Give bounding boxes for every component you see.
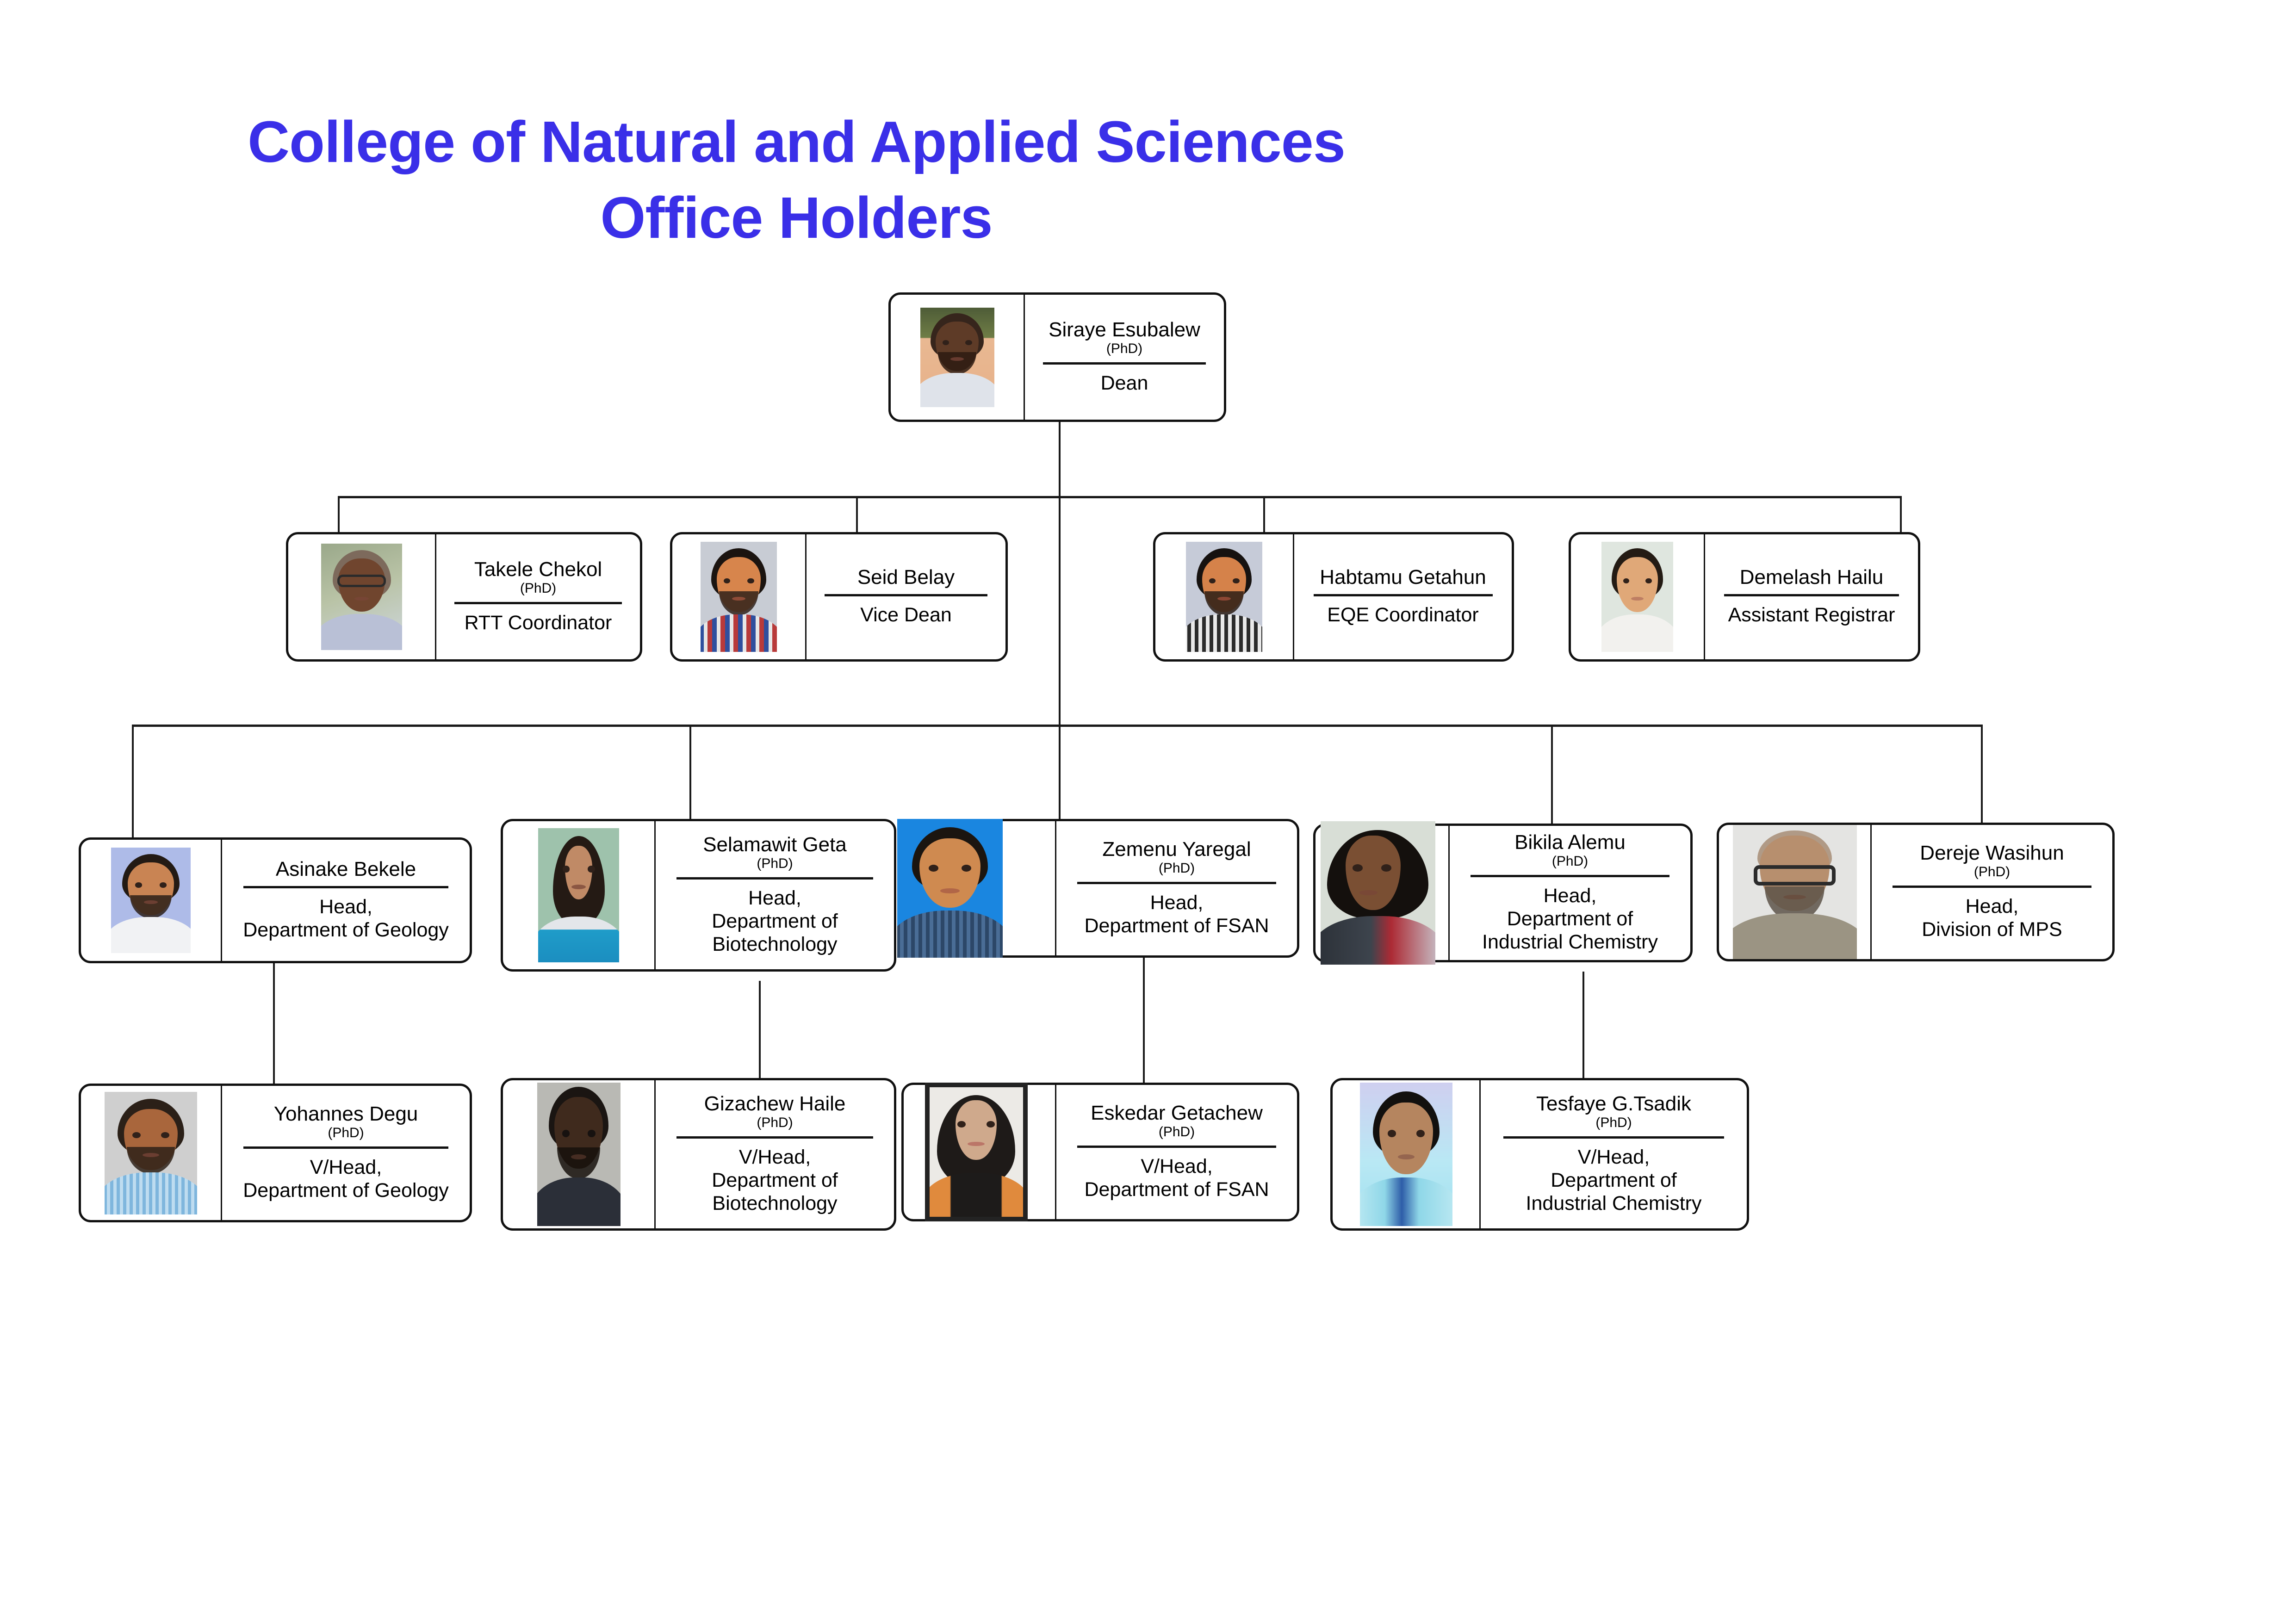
node-vhead-geology[interactable]: Yohannes Degu (PhD) V/Head, Department o…	[79, 1084, 472, 1222]
avatar-dean	[920, 308, 994, 407]
person-name: Zemenu Yaregal	[1102, 839, 1251, 861]
avatar-assistant-registrar	[1601, 542, 1673, 652]
info-cell-head-industrial-chemistry: Bikila Alemu (PhD) Head, Department of I…	[1450, 826, 1690, 960]
person-credential: (PhD)	[1595, 1115, 1632, 1131]
info-cell-vhead-fsan: Eskedar Getachew (PhD) V/Head, Departmen…	[1056, 1085, 1297, 1219]
info-cell-assistant-registrar: Demelash Hailu Assistant Registrar	[1705, 534, 1918, 659]
person-role: Assistant Registrar	[1728, 604, 1895, 627]
person-credential: (PhD)	[1106, 341, 1142, 357]
avatar-head-mps	[1733, 825, 1857, 959]
person-role: V/Head, Department of Geology	[243, 1156, 449, 1202]
person-role: Head, Department of Industrial Chemistry	[1482, 885, 1658, 954]
person-name: Habtamu Getahun	[1320, 567, 1486, 588]
person-credential: (PhD)	[757, 1115, 793, 1131]
divider	[676, 1136, 874, 1139]
org-chart-canvas: College of Natural and Applied Sciences …	[0, 0, 2296, 1623]
avatar-cell-assistant-registrar	[1571, 534, 1705, 659]
info-cell-vhead-biotechnology: Gizachew Haile (PhD) V/Head, Department …	[656, 1080, 894, 1228]
connector-level2-bus	[338, 496, 1902, 498]
person-name: Tesfaye G.Tsadik	[1536, 1093, 1691, 1115]
avatar-rtt-coordinator	[321, 544, 402, 650]
divider	[676, 877, 874, 880]
divider	[243, 886, 448, 888]
divider	[1503, 1136, 1724, 1139]
divider	[1077, 882, 1276, 884]
person-role: Vice Dean	[860, 604, 952, 627]
page-title: College of Natural and Applied Sciences …	[0, 104, 1944, 256]
divider	[454, 602, 621, 604]
avatar-eqe-coordinator	[1186, 542, 1262, 652]
avatar-cell-eqe-coordinator	[1155, 534, 1294, 659]
person-name: Demelash Hailu	[1740, 567, 1884, 588]
node-vhead-biotechnology[interactable]: Gizachew Haile (PhD) V/Head, Department …	[501, 1078, 896, 1231]
person-credential: (PhD)	[757, 856, 793, 872]
avatar-vhead-industrial-chemistry	[1360, 1083, 1452, 1226]
node-head-biotechnology[interactable]: Selamawit Geta (PhD) Head, Department of…	[501, 819, 896, 972]
person-name: Yohannes Degu	[274, 1103, 418, 1125]
divider	[1314, 594, 1493, 596]
avatar-vhead-fsan	[925, 1083, 1028, 1221]
divider	[1471, 875, 1669, 877]
node-vhead-industrial-chemistry[interactable]: Tesfaye G.Tsadik (PhD) V/Head, Departmen…	[1330, 1078, 1749, 1231]
node-assistant-registrar[interactable]: Demelash Hailu Assistant Registrar	[1569, 532, 1920, 662]
person-name: Bikila Alemu	[1514, 832, 1626, 854]
avatar-vhead-biotechnology	[537, 1083, 621, 1226]
divider	[243, 1146, 448, 1149]
info-cell-rtt-coordinator: Takele Chekol (PhD) RTT Coordinator	[436, 534, 640, 659]
connector-dean-stem	[1059, 421, 1061, 726]
avatar-cell-vice-dean	[672, 534, 807, 659]
person-role: Dean	[1101, 372, 1148, 395]
node-eqe-coordinator[interactable]: Habtamu Getahun EQE Coordinator	[1153, 532, 1514, 662]
avatar-cell-head-geology	[81, 840, 222, 961]
node-head-industrial-chemistry[interactable]: Bikila Alemu (PhD) Head, Department of I…	[1313, 824, 1693, 962]
divider	[1077, 1146, 1276, 1148]
avatar-cell-rtt-coordinator	[288, 534, 436, 659]
person-name: Dereje Wasihun	[1920, 842, 2064, 864]
avatar-cell-vhead-industrial-chemistry	[1333, 1080, 1481, 1228]
person-role: EQE Coordinator	[1327, 604, 1478, 627]
person-role: Head, Department of Biotechnology	[712, 887, 838, 956]
avatar-vice-dean	[701, 542, 777, 652]
avatar-cell-vhead-geology	[81, 1086, 222, 1220]
connector-drop-biotechnology	[689, 725, 691, 827]
node-rtt-coordinator[interactable]: Takele Chekol (PhD) RTT Coordinator	[286, 532, 642, 662]
person-credential: (PhD)	[520, 581, 556, 597]
info-cell-vhead-geology: Yohannes Degu (PhD) V/Head, Department o…	[222, 1086, 470, 1220]
person-role: V/Head, Department of Industrial Chemist…	[1526, 1146, 1702, 1215]
divider	[1043, 362, 1206, 365]
person-name: Takele Chekol	[474, 559, 602, 581]
info-cell-eqe-coordinator: Habtamu Getahun EQE Coordinator	[1294, 534, 1512, 659]
avatar-cell-head-mps	[1719, 825, 1872, 959]
person-credential: (PhD)	[1159, 861, 1195, 877]
node-dean[interactable]: Siraye Esubalew (PhD) Dean	[888, 292, 1226, 422]
node-head-fsan[interactable]: Zemenu Yaregal (PhD) Head, Department of…	[901, 819, 1299, 958]
person-name: Selamawit Geta	[703, 834, 847, 856]
info-cell-head-fsan: Zemenu Yaregal (PhD) Head, Department of…	[1056, 821, 1297, 955]
info-cell-vice-dean: Seid Belay Vice Dean	[807, 534, 1005, 659]
connector-industrialchem-vhead	[1582, 972, 1584, 1093]
info-cell-head-mps: Dereje Wasihun (PhD) Head, Division of M…	[1872, 825, 2112, 959]
connector-fsan-vhead	[1143, 958, 1145, 1092]
connector-drop-industrialchem	[1551, 725, 1553, 827]
info-cell-vhead-industrial-chemistry: Tesfaye G.Tsadik (PhD) V/Head, Departmen…	[1481, 1080, 1747, 1228]
node-vice-dean[interactable]: Seid Belay Vice Dean	[670, 532, 1008, 662]
person-name: Siraye Esubalew	[1049, 319, 1200, 341]
connector-drop-fsan	[1059, 725, 1061, 827]
avatar-cell-vhead-fsan	[904, 1085, 1056, 1219]
node-vhead-fsan[interactable]: Eskedar Getachew (PhD) V/Head, Departmen…	[901, 1083, 1299, 1221]
person-name: Eskedar Getachew	[1091, 1103, 1263, 1124]
person-credential: (PhD)	[1552, 854, 1588, 870]
node-head-mps[interactable]: Dereje Wasihun (PhD) Head, Division of M…	[1717, 823, 2115, 961]
divider	[1724, 594, 1899, 596]
info-cell-head-geology: Asinake Bekele Head, Department of Geolo…	[222, 840, 470, 961]
title-line-1: College of Natural and Applied Sciences	[0, 104, 1944, 180]
person-name: Seid Belay	[857, 567, 955, 588]
avatar-head-fsan	[897, 819, 1003, 958]
person-credential: (PhD)	[328, 1125, 364, 1141]
person-role: V/Head, Department of Biotechnology	[712, 1146, 838, 1215]
person-role: V/Head, Department of FSAN	[1084, 1155, 1269, 1202]
connector-biotechnology-vhead	[759, 981, 761, 1087]
connector-drop-mps	[1981, 725, 1983, 827]
info-cell-head-biotechnology: Selamawit Geta (PhD) Head, Department of…	[656, 821, 894, 969]
connector-drop-geology	[132, 725, 134, 838]
avatar-cell-head-industrial-chemistry	[1316, 826, 1450, 960]
avatar-cell-vhead-biotechnology	[503, 1080, 656, 1228]
avatar-head-geology	[111, 848, 191, 953]
person-name: Gizachew Haile	[704, 1093, 846, 1115]
person-role: Head, Division of MPS	[1922, 895, 2062, 942]
avatar-cell-head-biotechnology	[503, 821, 656, 969]
connector-geology-vhead	[273, 963, 275, 1084]
avatar-head-industrial-chemistry	[1321, 821, 1435, 965]
person-role: RTT Coordinator	[465, 612, 612, 635]
person-credential: (PhD)	[1974, 864, 2010, 880]
avatar-cell-head-fsan	[904, 821, 1056, 955]
person-role: Head, Department of FSAN	[1084, 892, 1269, 938]
info-cell-dean: Siraye Esubalew (PhD) Dean	[1025, 295, 1224, 420]
title-line-2: Office Holders	[0, 180, 1944, 256]
avatar-cell-dean	[891, 295, 1025, 420]
avatar-head-biotechnology	[538, 828, 619, 962]
connector-level3-bus	[132, 725, 1983, 727]
person-credential: (PhD)	[1159, 1124, 1195, 1140]
divider	[1893, 886, 2091, 888]
avatar-vhead-geology	[105, 1092, 197, 1214]
node-head-geology[interactable]: Asinake Bekele Head, Department of Geolo…	[79, 837, 472, 963]
person-name: Asinake Bekele	[276, 859, 416, 880]
divider	[825, 594, 988, 596]
person-role: Head, Department of Geology	[243, 896, 449, 942]
